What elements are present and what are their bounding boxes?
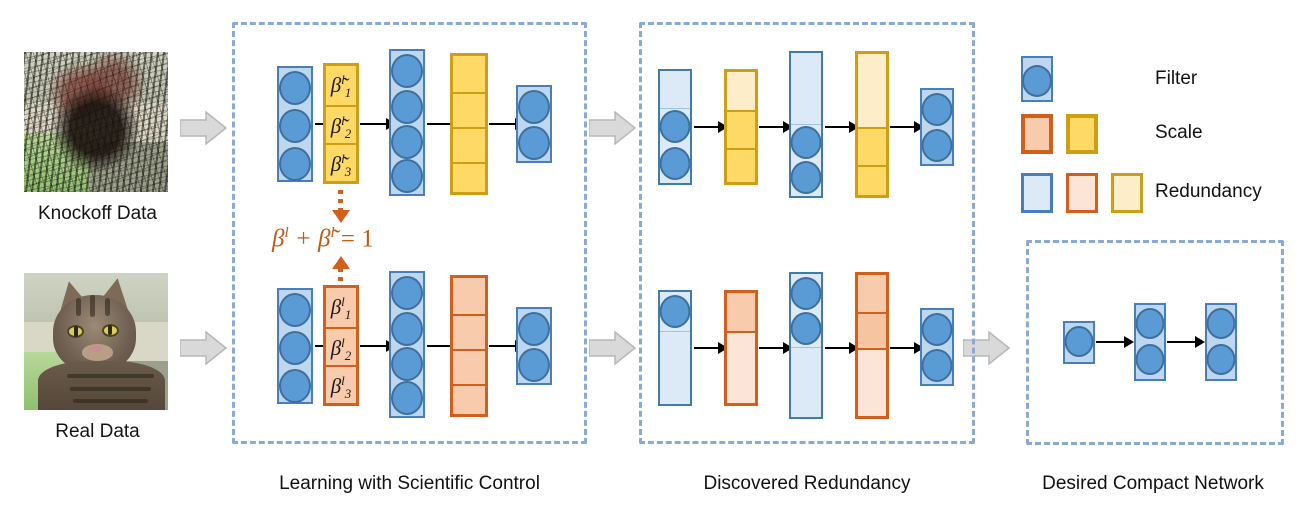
caption-discovered-redundancy: Discovered Redundancy [639,473,975,495]
redundancy-slot [660,71,690,109]
real-scale-block-2 [450,275,488,417]
flow-arrow-line [890,347,916,349]
scale-segment [453,384,485,420]
grey-arrow-knockoff-to-panel1 [180,110,228,146]
scale-label-beta-2: βl2 [326,336,356,362]
knockoff-output-filter-column [516,85,552,163]
scale-segment: β̃l2 [326,105,356,143]
scale-label-beta-tilde-1: β̃l1 [326,73,356,99]
filter-circle [279,71,311,105]
scale-segment [727,293,755,331]
scale-segment [727,110,755,148]
flow-arrow-line [360,123,388,125]
real-data-label: Real Data [10,421,185,443]
grey-arrow-panel1-to-panel2-bottom [589,330,637,366]
redundancy-slot [791,347,821,417]
filter-circle [922,93,953,126]
redundancy-slot [791,53,821,125]
flow-arrow-line [360,345,388,347]
flow-arrow-line [890,126,916,128]
scale-label-beta-1: βl1 [326,295,356,321]
redundancy-filter-column-1-bottom [658,290,692,406]
scale-segment: βl2 [326,327,356,365]
compact-hidden-column [1134,303,1166,381]
filter-circle [391,54,423,88]
grey-arrow-real-to-panel1 [180,330,228,366]
flow-arrow-line [489,345,517,347]
compact-input-column [1063,321,1095,364]
knockoff-scale-block-2 [450,53,488,195]
legend-swatch-redundancy-blue [1021,173,1053,213]
cat-stripe [105,298,110,316]
caption-learning-with-scientific-control: Learning with Scientific Control [232,473,587,495]
filter-circle [391,159,423,193]
redundancy-filter-column-2-top [789,51,823,198]
filter-circle [1136,344,1165,375]
scale-segment [858,312,886,348]
equation-dotted-line-down [338,190,343,212]
cat-eye-right [102,324,119,337]
filter-circle [518,348,550,382]
scale-segment [453,56,485,92]
filter-circle [391,276,423,310]
filter-circle [791,126,822,159]
cat-stripe [70,387,151,391]
flow-arrow-line [1167,341,1197,343]
filter-circle [391,90,423,124]
redundancy-segment [727,72,755,110]
redundancy-output-column-top [920,88,954,166]
filter-circle [1065,326,1094,357]
scale-segment [453,92,485,127]
scale-segment [858,165,886,195]
redundancy-filter-column-1-top [658,69,692,185]
flow-arrow-line [694,126,720,128]
knockoff-noise-layer-2 [24,52,168,192]
filter-circle [391,125,423,159]
filter-circle [1207,308,1236,339]
scale-segment: β̃l3 [326,143,356,181]
filter-circle [391,312,423,346]
filter-circle [518,312,550,346]
flow-arrow-line [759,347,785,349]
real-hidden-filter-column [389,271,425,418]
scale-segment [453,162,485,198]
real-input-filter-column [277,288,313,404]
redundancy-slot [660,331,690,404]
filter-circle [518,90,550,124]
filter-circle [791,277,822,310]
flow-arrow-line [694,347,720,349]
legend-swatch-redundancy-orange [1066,173,1098,213]
scale-segment: βl3 [326,365,356,403]
knockoff-hidden-filter-column [389,49,425,196]
real-scale-block: βl1 βl2 βl3 [323,285,359,406]
flow-arrow-line [825,126,851,128]
filter-circle [279,293,311,327]
cat-stripe [90,295,95,317]
scale-segment [858,127,886,165]
knockoff-data-image [24,52,168,192]
grey-arrow-panel1-to-panel2-top [589,110,637,146]
filter-circle [279,109,311,143]
redundancy-output-column-bottom [920,308,954,386]
scale-label-beta-tilde-2: β̃l2 [326,114,356,140]
cat-stripe [67,374,153,378]
scale-segment [453,278,485,314]
filter-circle [279,331,311,365]
redundancy-scale-block-1-top [724,69,758,185]
filter-circle [1207,344,1236,375]
legend-swatch-scale-yellow [1066,114,1098,154]
filter-circle [1136,308,1165,339]
filter-circle [660,110,691,143]
real-data-image [24,273,168,410]
scale-segment [453,314,485,349]
knockoff-scale-block: β̃l1 β̃l2 β̃l3 [323,63,359,184]
scale-segment [727,148,755,182]
filter-circle [1022,65,1052,97]
scale-segment [453,349,485,384]
filter-circle [279,147,311,181]
filter-circle [660,295,691,328]
scale-label-beta-tilde-3: β̃l3 [326,152,356,178]
flow-arrow-head [1195,336,1205,348]
flow-arrow-line [489,123,517,125]
redundancy-segment [858,348,886,416]
filter-circle [922,349,953,382]
legend-swatch-redundancy-yellow [1111,173,1143,213]
redundancy-scale-block-2-bottom [855,272,889,419]
scale-segment: βl1 [326,288,356,327]
filter-circle [922,313,953,346]
cat-stripe [76,298,81,316]
redundancy-scale-block-1-bottom [724,290,758,406]
filter-circle [660,147,691,180]
flow-arrow-line [825,347,851,349]
filter-circle [391,381,423,415]
legend-label-filter: Filter [1155,68,1197,90]
redundancy-scale-block-2-top [855,51,889,198]
scale-segment [453,127,485,162]
legend-swatch-scale-orange [1021,114,1053,154]
legend-swatch-filter [1021,56,1053,102]
compact-output-column [1205,303,1237,381]
cat-stripe [73,399,148,403]
filter-circle [279,369,311,403]
real-output-filter-column [516,307,552,385]
filter-circle [518,126,550,160]
filter-circle [791,312,822,345]
flow-arrow-line [759,126,785,128]
scale-segment: β̃l1 [326,66,356,105]
redundancy-filter-column-2-bottom [789,272,823,419]
flow-arrow-head [1124,336,1134,348]
knockoff-input-filter-column [277,66,313,182]
scale-label-beta-3: βl3 [326,374,356,400]
redundancy-segment [858,54,886,127]
beta-constraint-equation: βl + β̃l = 1 [272,225,374,253]
flow-arrow-line [1096,341,1126,343]
caption-desired-compact-network: Desired Compact Network [1013,473,1293,495]
equation-arrow-down-icon [332,210,350,223]
filter-circle [391,347,423,381]
legend-label-scale: Scale [1155,122,1203,144]
scale-segment [858,275,886,312]
redundancy-segment [727,331,755,403]
filter-circle [922,129,953,162]
knockoff-data-label: Knockoff Data [10,203,185,225]
legend-label-redundancy: Redundancy [1155,181,1262,203]
filter-circle [791,161,822,194]
